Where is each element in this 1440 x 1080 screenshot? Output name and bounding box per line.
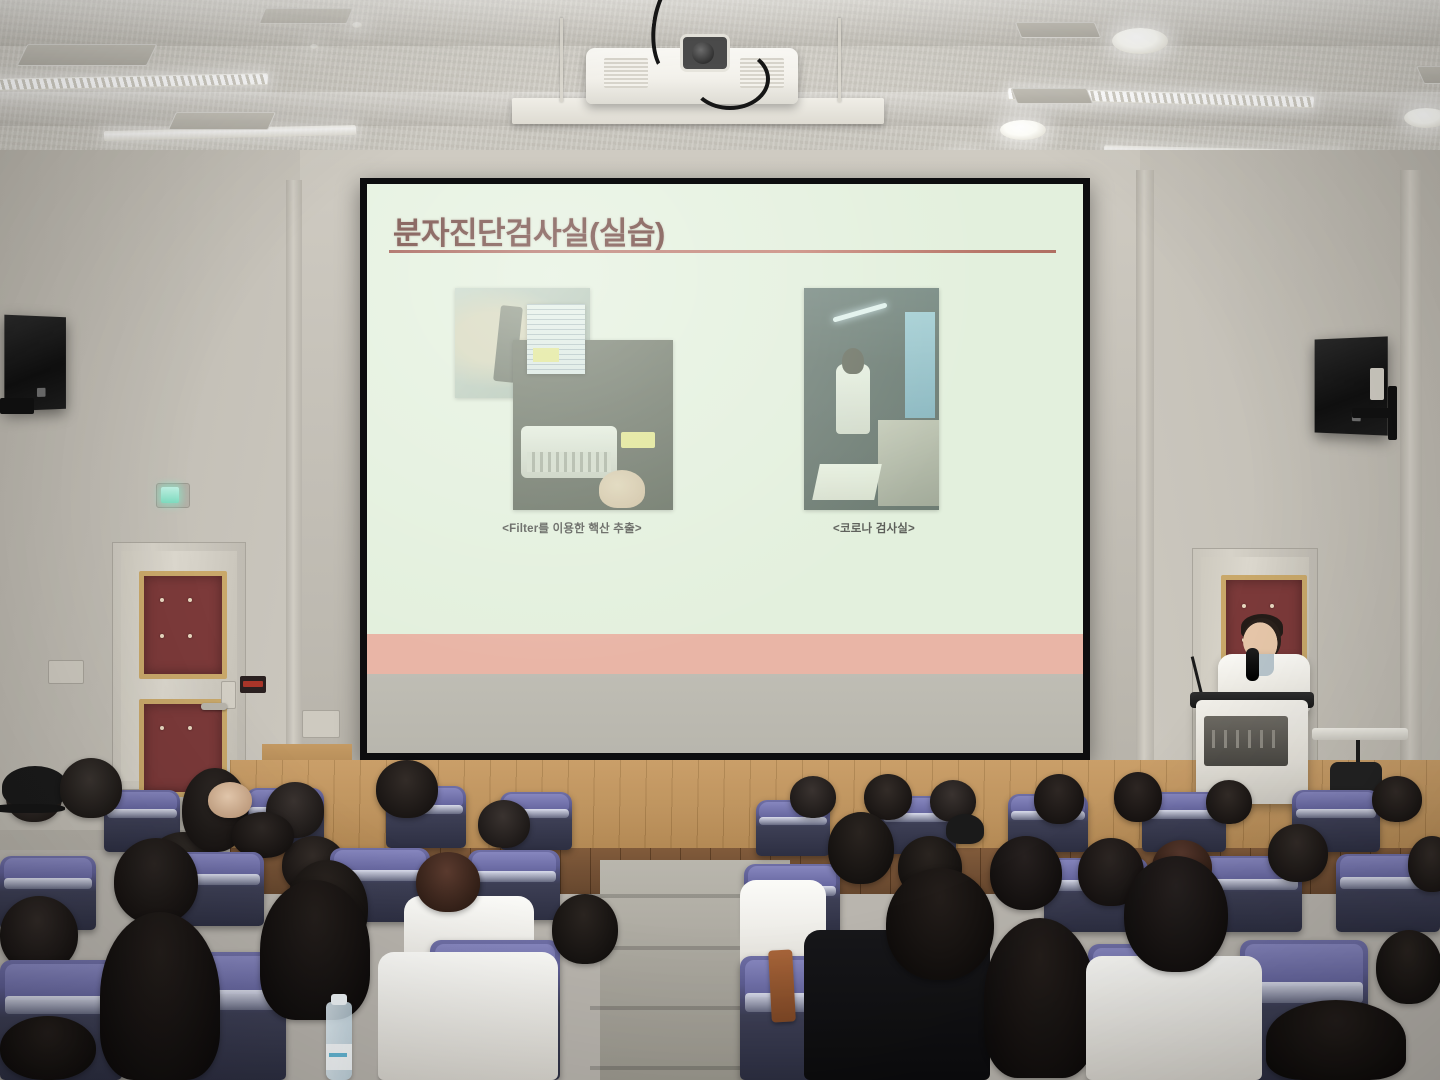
audience-head	[1268, 824, 1328, 882]
audience-cap	[2, 766, 68, 808]
wall-pilaster	[1400, 170, 1422, 790]
audience-head	[478, 800, 530, 848]
lecture-hall-photo: 분자진단검사실(실습) <Filter를 이용한 핵산 추출> <코로	[0, 0, 1440, 1080]
audience-head	[208, 782, 252, 818]
ceiling-vent	[1011, 88, 1093, 104]
wall-pilaster	[286, 180, 302, 770]
wall-speaker-left	[4, 315, 66, 412]
audience-head	[376, 760, 438, 818]
projector-cable	[690, 48, 770, 110]
audience-head	[1124, 856, 1228, 972]
covid-testing-room-corridor-photo	[804, 288, 939, 510]
projector-support-rod	[838, 18, 841, 102]
audience-head	[828, 812, 894, 884]
handheld-microphone	[1246, 648, 1259, 681]
door-handle[interactable]	[201, 703, 227, 710]
door-upper-panel	[139, 571, 227, 679]
wall-pilaster	[1136, 170, 1154, 790]
speaker-bracket	[0, 398, 34, 414]
downlight-icon	[1000, 120, 1046, 140]
door-left[interactable]	[112, 542, 246, 790]
door-access-keypad[interactable]	[240, 676, 266, 693]
projection-screen: 분자진단검사실(실습) <Filter를 이용한 핵산 추출> <코로	[360, 178, 1090, 760]
slide-title: 분자진단검사실(실습)	[393, 208, 665, 253]
audience-torso	[378, 952, 558, 1080]
screen-blank-area	[367, 674, 1083, 753]
side-table	[1312, 728, 1408, 740]
water-bottle-on-armrest	[326, 1002, 352, 1080]
lectern-button-row[interactable]	[1212, 730, 1278, 748]
downlight-icon	[310, 44, 318, 49]
requisition-form-photo	[527, 304, 585, 374]
speaker-bracket	[1388, 386, 1397, 440]
presentation-slide: 분자진단검사실(실습) <Filter를 이용한 핵산 추출> <코로	[367, 184, 1083, 634]
downlight-icon	[352, 22, 362, 28]
ceiling-vent	[17, 44, 158, 66]
slide-title-underline	[389, 250, 1056, 253]
audience-torso	[1086, 956, 1262, 1080]
wall-outlet-box	[302, 710, 340, 738]
projector-support-rod	[560, 18, 563, 102]
audience-head	[1372, 776, 1422, 822]
audience-head	[1266, 1000, 1406, 1080]
slide-caption-right: <코로나 검사실>	[814, 520, 934, 536]
audience-head	[260, 880, 370, 1020]
audience-head	[1376, 930, 1440, 1004]
downlight-icon	[1112, 28, 1168, 54]
audience-head	[552, 894, 618, 964]
audience-head	[790, 776, 836, 818]
seat-armrest	[768, 949, 796, 1022]
ceiling-vent	[168, 112, 276, 130]
audience-head	[100, 912, 220, 1080]
audience-head	[114, 838, 198, 924]
slide-caption-left: <Filter를 이용한 핵산 추출>	[467, 520, 677, 536]
speaker-bracket	[1370, 368, 1384, 400]
audience-head	[990, 836, 1062, 910]
audience-head	[416, 852, 480, 912]
wall-outlet-box	[48, 660, 84, 684]
audience-head	[1034, 774, 1084, 824]
audience-cap	[946, 814, 984, 844]
audience-head	[984, 918, 1096, 1078]
ceiling-vent	[259, 8, 353, 24]
downlight-icon	[1404, 108, 1440, 128]
emergency-exit-sign	[156, 483, 190, 508]
audience-head	[1114, 772, 1162, 822]
audience-head	[60, 758, 122, 818]
audience-head	[886, 868, 994, 980]
ceiling-vent	[1015, 22, 1101, 38]
audience-head	[1206, 780, 1252, 824]
slide-accent-band	[367, 634, 1083, 674]
audience-head	[0, 1016, 96, 1080]
